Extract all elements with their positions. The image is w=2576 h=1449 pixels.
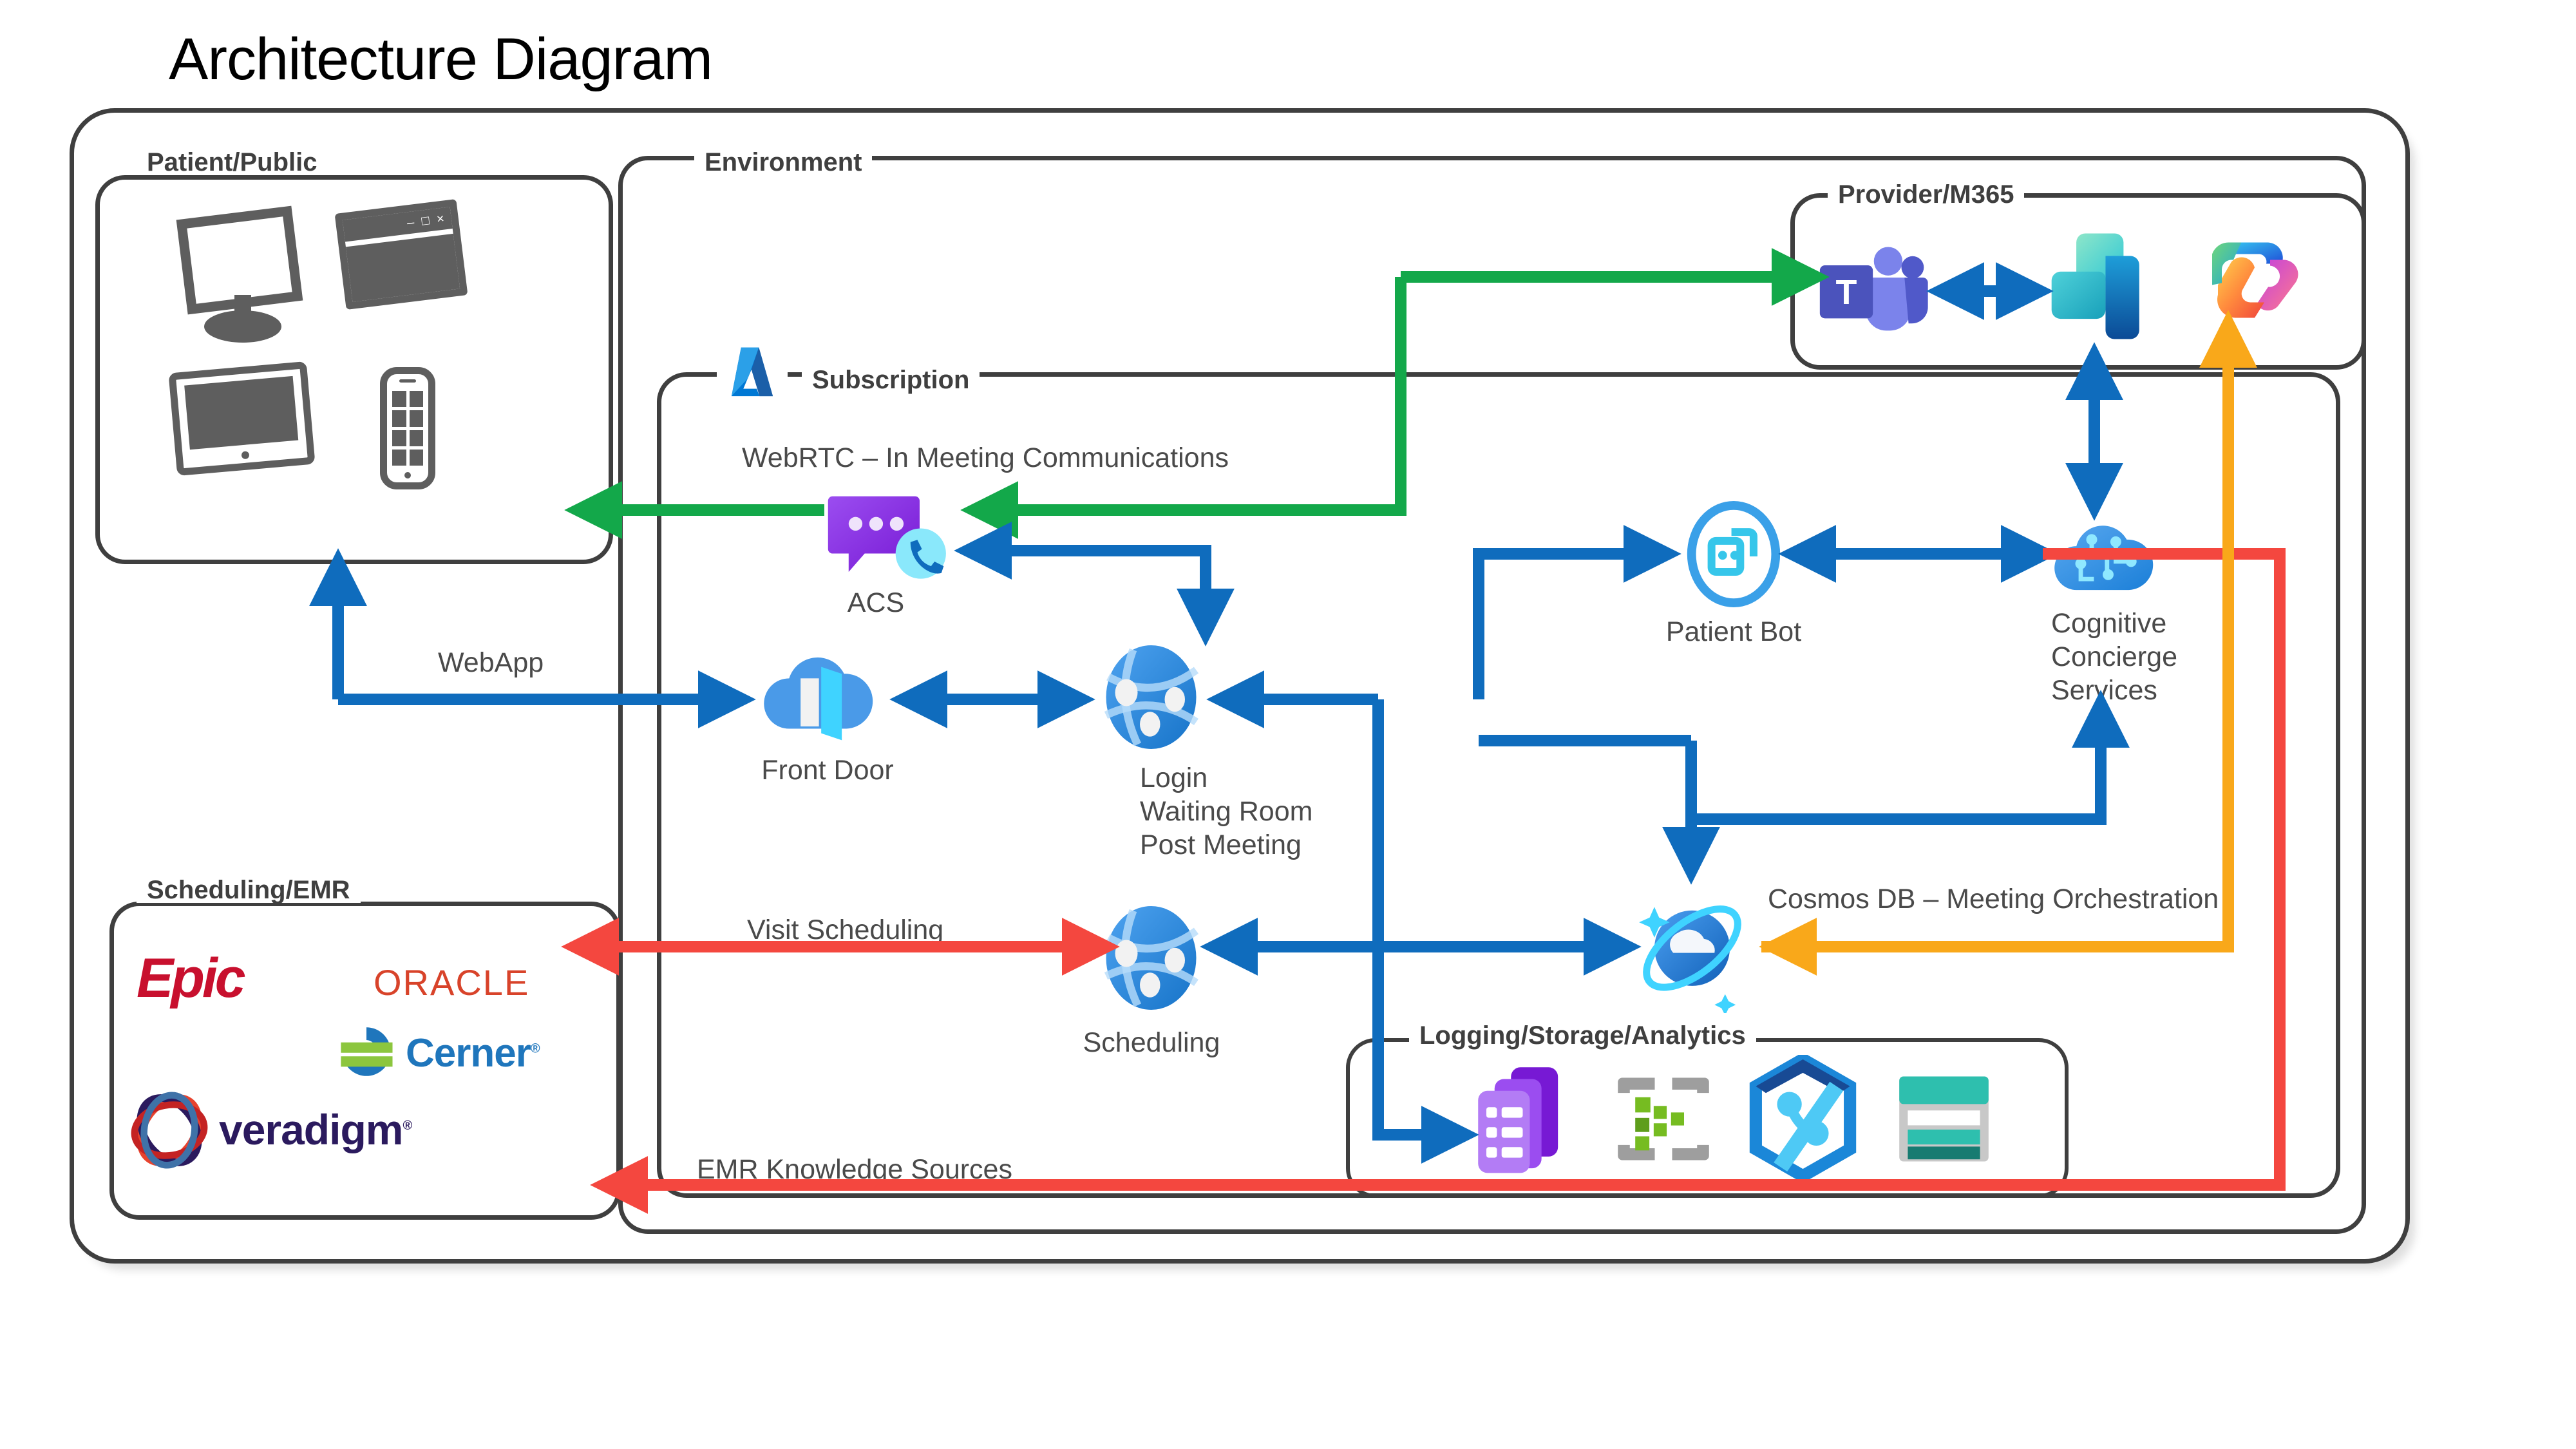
patient-bot-label: Patient Bot bbox=[1666, 615, 1801, 649]
log-analytics-icon[interactable] bbox=[1463, 1063, 1582, 1175]
veradigm-logo: veradigm® bbox=[219, 1105, 412, 1154]
group-scheduling-emr-label: Scheduling/EMR bbox=[137, 877, 361, 903]
group-subscription-label: Subscription bbox=[802, 367, 980, 393]
page-title: Architecture Diagram bbox=[169, 26, 712, 93]
cerner-mark-icon bbox=[337, 1023, 395, 1081]
webrtc-label: WebRTC – In Meeting Communications bbox=[742, 441, 1229, 475]
group-environment-label: Environment bbox=[694, 149, 872, 175]
epic-logo: Epic bbox=[137, 947, 243, 1010]
webapp-label: WebApp bbox=[438, 646, 544, 679]
mobile-phone-icon bbox=[380, 367, 451, 502]
group-patient-public-label: Patient/Public bbox=[137, 149, 328, 175]
emr-knowledge-label: EMR Knowledge Sources bbox=[697, 1153, 1012, 1186]
acs-chat-call-icon[interactable] bbox=[824, 489, 953, 592]
veradigm-mark-icon bbox=[128, 1088, 211, 1172]
login-label: Login Waiting Room Post Meeting bbox=[1140, 761, 1312, 862]
group-provider-m365-label: Provider/M365 bbox=[1828, 182, 2024, 207]
analytics-table-icon[interactable] bbox=[1891, 1069, 1997, 1169]
storage-account-icon[interactable] bbox=[1609, 1069, 1718, 1169]
cerner-logo: Cerner® bbox=[406, 1030, 540, 1076]
scheduling-icon[interactable] bbox=[1095, 902, 1207, 1014]
desktop-monitor-icon bbox=[175, 213, 323, 341]
azure-app-service-icon[interactable] bbox=[1095, 641, 1207, 753]
svg-text:T: T bbox=[1836, 273, 1857, 312]
azure-cognitive-services-icon[interactable] bbox=[2048, 509, 2157, 599]
tablet-icon bbox=[173, 367, 327, 489]
group-logging-label: Logging/Storage/Analytics bbox=[1409, 1023, 1756, 1048]
azure-front-door-icon[interactable] bbox=[755, 644, 874, 747]
azure-cosmos-db-icon[interactable] bbox=[1626, 881, 1758, 1013]
visit-scheduling-label: Visit Scheduling bbox=[747, 913, 943, 947]
cosmos-db-label: Cosmos DB – Meeting Orchestration bbox=[1768, 882, 2219, 916]
browser-window-icon: – □ × bbox=[340, 206, 475, 322]
scheduling-label: Scheduling bbox=[1083, 1026, 1220, 1059]
cognitive-label: Cognitive Concierge Services bbox=[2051, 607, 2177, 707]
acs-label: ACS bbox=[848, 586, 904, 620]
azure-logo-icon bbox=[717, 340, 788, 411]
oracle-logo: ORACLE bbox=[374, 961, 529, 1003]
microsoft-teams-icon[interactable]: T bbox=[1810, 238, 1932, 341]
azure-bot-service-icon[interactable] bbox=[1682, 501, 1785, 607]
azure-data-explorer-icon[interactable] bbox=[1747, 1055, 1859, 1180]
copilot-studio-icon[interactable] bbox=[2040, 227, 2153, 346]
microsoft-copilot-icon[interactable] bbox=[2202, 231, 2299, 334]
diagram-canvas: Architecture Diagram Environment Subscri… bbox=[0, 0, 2576, 1449]
front-door-label: Front Door bbox=[761, 753, 894, 787]
